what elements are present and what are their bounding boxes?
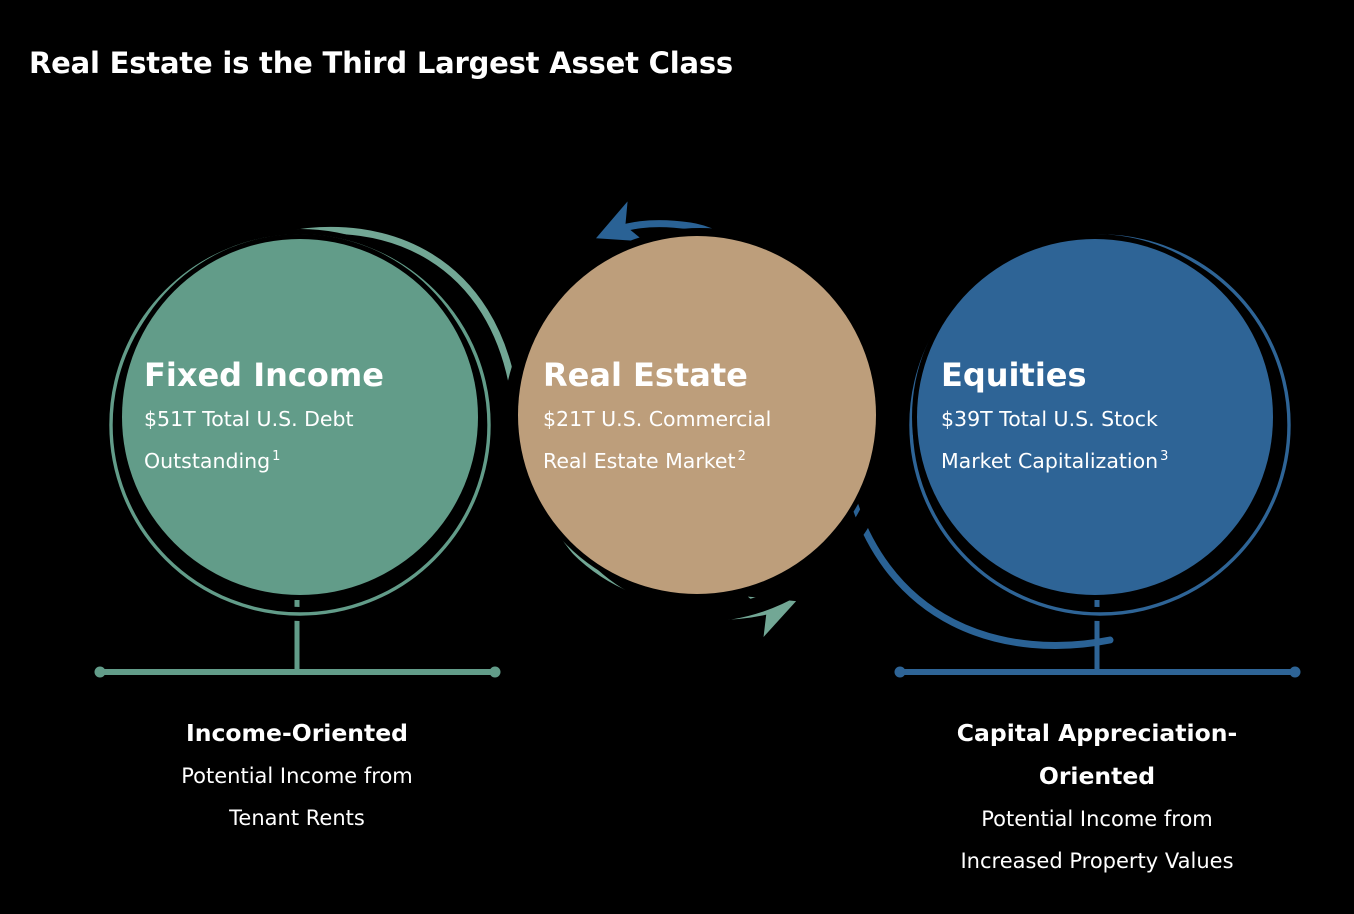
- caption-left-body-line1: Potential Income from: [72, 755, 522, 797]
- caption-left: Income-Oriented Potential Income from Te…: [72, 712, 522, 839]
- footnote-marker-3: 3: [1160, 449, 1168, 464]
- node-label-fixed-income: Fixed Income $51T Total U.S. Debt Outsta…: [144, 357, 474, 482]
- caption-left-heading: Income-Oriented: [72, 712, 522, 755]
- slide-root: Real Estate is the Third Largest Asset C…: [0, 0, 1354, 914]
- node-detail-equities-line2-text: Market Capitalization: [941, 449, 1158, 473]
- node-detail-real-estate-line2-text: Real Estate Market: [543, 449, 736, 473]
- caption-right-heading-line1: Capital Appreciation-: [872, 712, 1322, 755]
- node-detail-equities-line2: Market Capitalization3: [941, 440, 1281, 482]
- footnote-marker-1: 1: [272, 449, 280, 464]
- node-detail-fixed-income-line1: $51T Total U.S. Debt: [144, 398, 474, 440]
- node-label-equities: Equities $39T Total U.S. Stock Market Ca…: [941, 357, 1281, 482]
- node-title-real-estate: Real Estate: [543, 357, 883, 393]
- caption-right-body-line1: Potential Income from: [872, 798, 1322, 840]
- caption-right-body-line2: Increased Property Values: [872, 840, 1322, 882]
- caption-right-heading-line2: Oriented: [872, 755, 1322, 798]
- node-title-fixed-income: Fixed Income: [144, 357, 474, 393]
- node-label-real-estate: Real Estate $21T U.S. Commercial Real Es…: [543, 357, 883, 482]
- node-title-equities: Equities: [941, 357, 1281, 393]
- node-detail-real-estate-line2: Real Estate Market2: [543, 440, 883, 482]
- footnote-marker-2: 2: [738, 449, 746, 464]
- caption-right: Capital Appreciation- Oriented Potential…: [872, 712, 1322, 882]
- node-detail-equities-line1: $39T Total U.S. Stock: [941, 398, 1281, 440]
- node-detail-fixed-income-line2-text: Outstanding: [144, 449, 270, 473]
- node-detail-fixed-income-line2: Outstanding1: [144, 440, 474, 482]
- caption-left-body-line2: Tenant Rents: [72, 797, 522, 839]
- node-detail-real-estate-line1: $21T U.S. Commercial: [543, 398, 883, 440]
